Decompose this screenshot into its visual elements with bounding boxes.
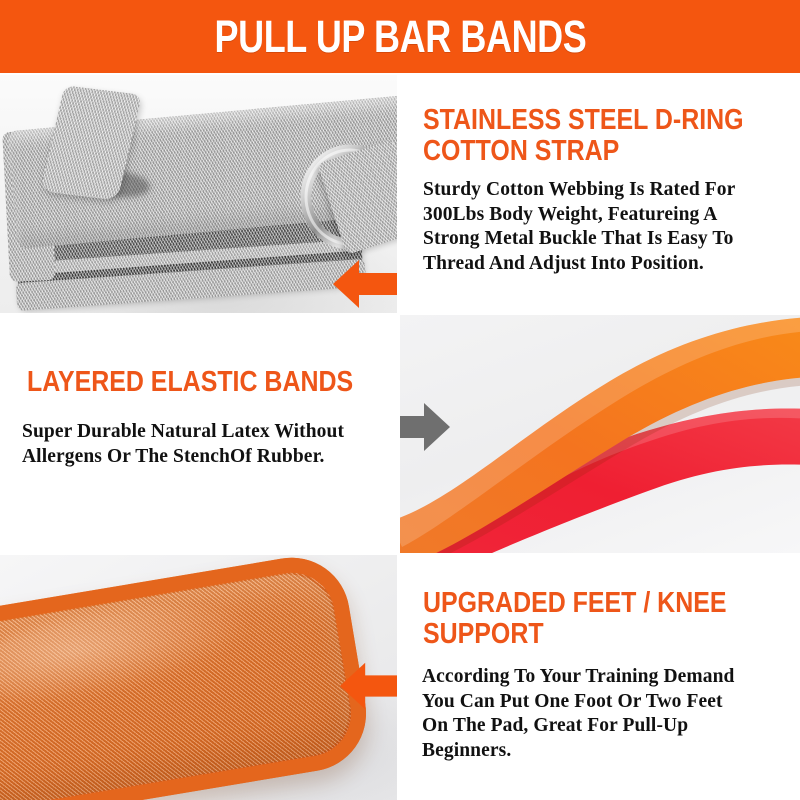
callout-arrow-left-strap: [333, 258, 397, 310]
cotton-strap-photo: [0, 75, 397, 313]
feature-body-d-ring-strap: Sturdy Cotton Webbing Is Rated For 300Lb…: [423, 178, 781, 276]
header-banner: PULL UP BAR BANDS: [0, 0, 800, 73]
feature-heading-d-ring-strap: STAINLESS STEEL D-RING COTTON STRAP: [423, 105, 793, 167]
callout-arrow-right-bands: [400, 401, 450, 453]
callout-arrow-left-pad: [340, 660, 397, 712]
feature-text-d-ring-strap: STAINLESS STEEL D-RING COTTON STRAP Stur…: [400, 75, 800, 313]
page-title: PULL UP BAR BANDS: [214, 14, 586, 60]
product-infographic: PULL UP BAR BANDS: [0, 0, 800, 800]
feature-body-elastic-bands: Super Durable Natural Latex Without Alle…: [22, 420, 394, 469]
knee-pad-cushion: [0, 555, 375, 800]
latex-bands-illustration: [400, 315, 800, 553]
feature-heading-knee-pad: UPGRADED FEET / KNEE SUPPORT: [423, 588, 793, 650]
feature-text-elastic-bands: LAYERED ELASTIC BANDS Super Durable Natu…: [0, 315, 397, 553]
feature-photo-d-ring-strap: [0, 75, 397, 313]
feature-body-knee-pad: According To Your Training Demand You Ca…: [422, 665, 787, 763]
feature-heading-elastic-bands: LAYERED ELASTIC BANDS: [27, 367, 388, 398]
feature-text-knee-pad: UPGRADED FEET / KNEE SUPPORT According T…: [400, 555, 800, 800]
feature-photo-knee-pad: [0, 555, 397, 800]
elastic-bands-photo: [400, 315, 800, 553]
knee-pad-photo: [0, 555, 397, 800]
feature-photo-elastic-bands: [400, 315, 800, 553]
